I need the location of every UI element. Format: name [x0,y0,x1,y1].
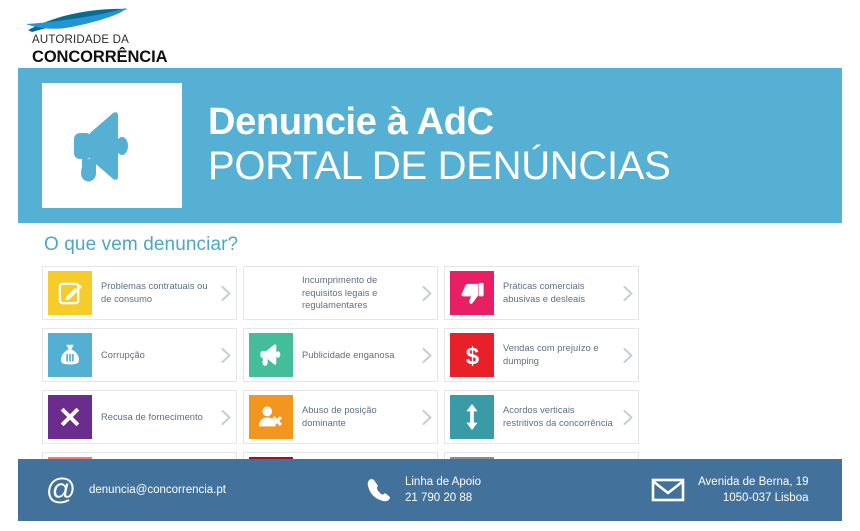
adc-logo-text: AUTORIDADE DA CONCORRÊNCIA [32,35,167,65]
header-banner: Denuncie à AdC PORTAL DE DENÚNCIAS [18,68,842,223]
footer-email-block[interactable]: @ denuncia@concorrencia.pt [46,475,226,505]
footer-contact-bar: @ denuncia@concorrencia.pt Linha de Apoi… [18,459,842,521]
footer-email-text: denuncia@concorrencia.pt [89,482,226,498]
gavel-icon [249,271,293,315]
category-card-label: Incumprimento de requisitos legais e reg… [293,267,417,319]
logo-line-1: AUTORIDADE DA [32,35,167,47]
svg-text:$: $ [465,343,479,369]
edit-document-icon [48,271,92,315]
footer-email-line-1: denuncia@concorrencia.pt [89,482,226,498]
chevron-right-icon[interactable] [216,391,236,443]
category-card[interactable]: Corrupção [42,328,237,382]
adc-logo[interactable]: AUTORIDADE DA CONCORRÊNCIA [22,6,202,68]
category-card-label: Acordos verticais restritivos da concorr… [494,391,618,443]
chevron-right-icon[interactable] [618,267,638,319]
vertical-arrows-icon [450,395,494,439]
category-card-label: Corrupção [92,329,216,381]
at-sign-icon: @ [46,475,76,505]
footer-phone-text: Linha de Apoio 21 790 20 88 [405,474,481,507]
footer-address-text: Avenida de Berna, 19 1050-037 Lisboa [698,474,808,507]
category-card[interactable]: Acordos verticais restritivos da concorr… [444,390,639,444]
footer-address-block[interactable]: Avenida de Berna, 19 1050-037 Lisboa [651,474,808,507]
category-card-label: Práticas comerciais abusivas e desleais [494,267,618,319]
category-card[interactable]: Incumprimento de requisitos legais e reg… [243,266,438,320]
category-card-label: Problemas contratuais ou de consumo [92,267,216,319]
category-card[interactable]: Abuso de posição dominante [243,390,438,444]
thumbs-down-icon [450,271,494,315]
category-card[interactable]: Publicidade enganosa [243,328,438,382]
portal-denuncias-page: AUTORIDADE DA CONCORRÊNCIA Denuncie à Ad… [0,0,860,531]
footer-address-line-2: 1050-037 Lisboa [698,490,808,506]
chevron-right-icon[interactable] [618,329,638,381]
footer-phone-line-2: 21 790 20 88 [405,490,481,506]
envelope-icon [651,477,685,503]
megaphone-icon [249,333,293,377]
category-card-label: Abuso de posição dominante [293,391,417,443]
adc-swoosh-logo-icon [22,6,147,36]
page-subtitle: PORTAL DE DENÚNCIAS [208,146,671,188]
category-card-label: Publicidade enganosa [293,329,417,381]
svg-text:@: @ [46,475,76,505]
category-card[interactable]: Práticas comerciais abusivas e desleais [444,266,639,320]
footer-phone-block[interactable]: Linha de Apoio 21 790 20 88 [366,474,481,507]
footer-phone-line-1: Linha de Apoio [405,474,481,490]
dollar-sign-icon: $ [450,333,494,377]
chevron-right-icon[interactable] [216,267,236,319]
megaphone-icon [66,107,158,185]
chevron-right-icon[interactable] [618,391,638,443]
chevron-right-icon[interactable] [417,267,437,319]
user-remove-icon [249,395,293,439]
cross-x-icon [48,395,92,439]
category-card-label: Vendas com prejuízo e dumping [494,329,618,381]
category-card[interactable]: Recusa de fornecimento [42,390,237,444]
chevron-right-icon[interactable] [417,329,437,381]
money-bag-icon [48,333,92,377]
chevron-right-icon[interactable] [417,391,437,443]
category-card[interactable]: $Vendas com prejuízo e dumping [444,328,639,382]
header-titles: Denuncie à AdC PORTAL DE DENÚNCIAS [208,103,671,188]
page-title: Denuncie à AdC [208,103,671,143]
logo-line-2: CONCORRÊNCIA [32,49,167,66]
category-card[interactable]: Problemas contratuais ou de consumo [42,266,237,320]
section-heading: O que vem denunciar? [44,234,238,256]
category-card-label: Recusa de fornecimento [92,391,216,443]
footer-address-line-1: Avenida de Berna, 19 [698,474,808,490]
header-megaphone-tile [42,83,182,208]
chevron-right-icon[interactable] [216,329,236,381]
phone-icon [366,477,392,503]
